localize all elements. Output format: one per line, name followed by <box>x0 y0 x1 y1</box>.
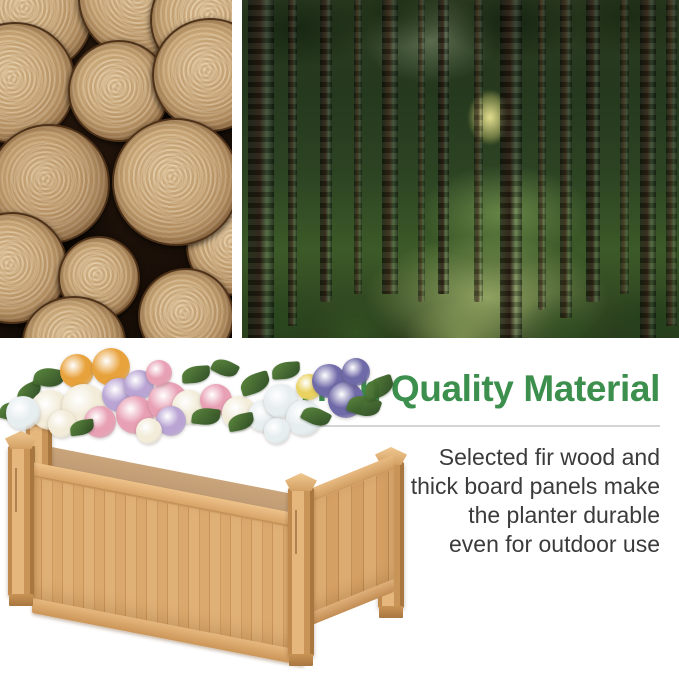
tree-trunk <box>640 0 656 338</box>
tree-trunk <box>248 0 274 338</box>
trunk-bark-texture <box>438 0 449 294</box>
trunk-bark-texture <box>666 0 677 326</box>
foliage-leaf <box>191 406 221 426</box>
stacked-logs-photo <box>0 0 232 338</box>
foliage-leaf <box>210 355 240 381</box>
trunk-bark-texture <box>354 0 362 294</box>
trunk-bark-texture <box>640 0 656 338</box>
tree-trunk <box>666 0 677 326</box>
flower-bloom <box>6 396 40 430</box>
tree-trunk <box>620 0 629 294</box>
corner-post-front-right <box>288 488 314 656</box>
trunk-bark-texture <box>620 0 629 294</box>
photo-strip <box>0 0 679 338</box>
forest-canopy <box>242 0 679 155</box>
tree-trunk <box>438 0 449 294</box>
post-groove <box>15 468 17 512</box>
conifer-forest-photo <box>242 0 679 338</box>
trunk-bark-texture <box>288 0 297 326</box>
tree-trunk <box>586 0 600 302</box>
foliage-leaf <box>272 361 301 379</box>
content-area: High Quality Material Selected fir wood … <box>0 338 679 679</box>
flower-bloom <box>60 354 94 388</box>
trunk-bark-texture <box>418 0 425 302</box>
flower-bloom <box>264 418 290 444</box>
flower-arrangement <box>0 344 400 472</box>
trunk-bark-texture <box>320 0 332 302</box>
trunk-bark-texture <box>382 0 398 294</box>
flower-bloom <box>136 418 162 444</box>
forest-undergrowth <box>242 223 679 338</box>
trunk-bark-texture <box>586 0 600 302</box>
tree-trunk <box>500 0 522 338</box>
tree-trunk <box>382 0 398 294</box>
trunk-bark-texture <box>474 0 483 302</box>
log-end-grain <box>112 118 232 246</box>
trunk-bark-texture <box>560 0 572 318</box>
tree-trunk <box>538 0 546 310</box>
flower-bloom <box>146 360 172 386</box>
flower-bloom <box>342 358 370 386</box>
tree-trunk <box>418 0 425 302</box>
tree-trunk <box>560 0 572 318</box>
planter-product-image <box>0 378 414 668</box>
post-cap <box>285 473 317 491</box>
post-foot <box>289 654 313 666</box>
infographic-page: High Quality Material Selected fir wood … <box>0 0 679 679</box>
tree-trunk <box>320 0 332 302</box>
tree-trunk <box>288 0 297 326</box>
trunk-bark-texture <box>500 0 522 338</box>
foliage-leaf <box>182 365 211 383</box>
post-groove <box>295 510 297 554</box>
tree-trunk <box>354 0 362 294</box>
post-foot <box>9 594 33 606</box>
trunk-bark-texture <box>538 0 546 310</box>
post-foot <box>379 606 403 618</box>
tree-trunk <box>474 0 483 302</box>
trunk-bark-texture <box>248 0 274 338</box>
